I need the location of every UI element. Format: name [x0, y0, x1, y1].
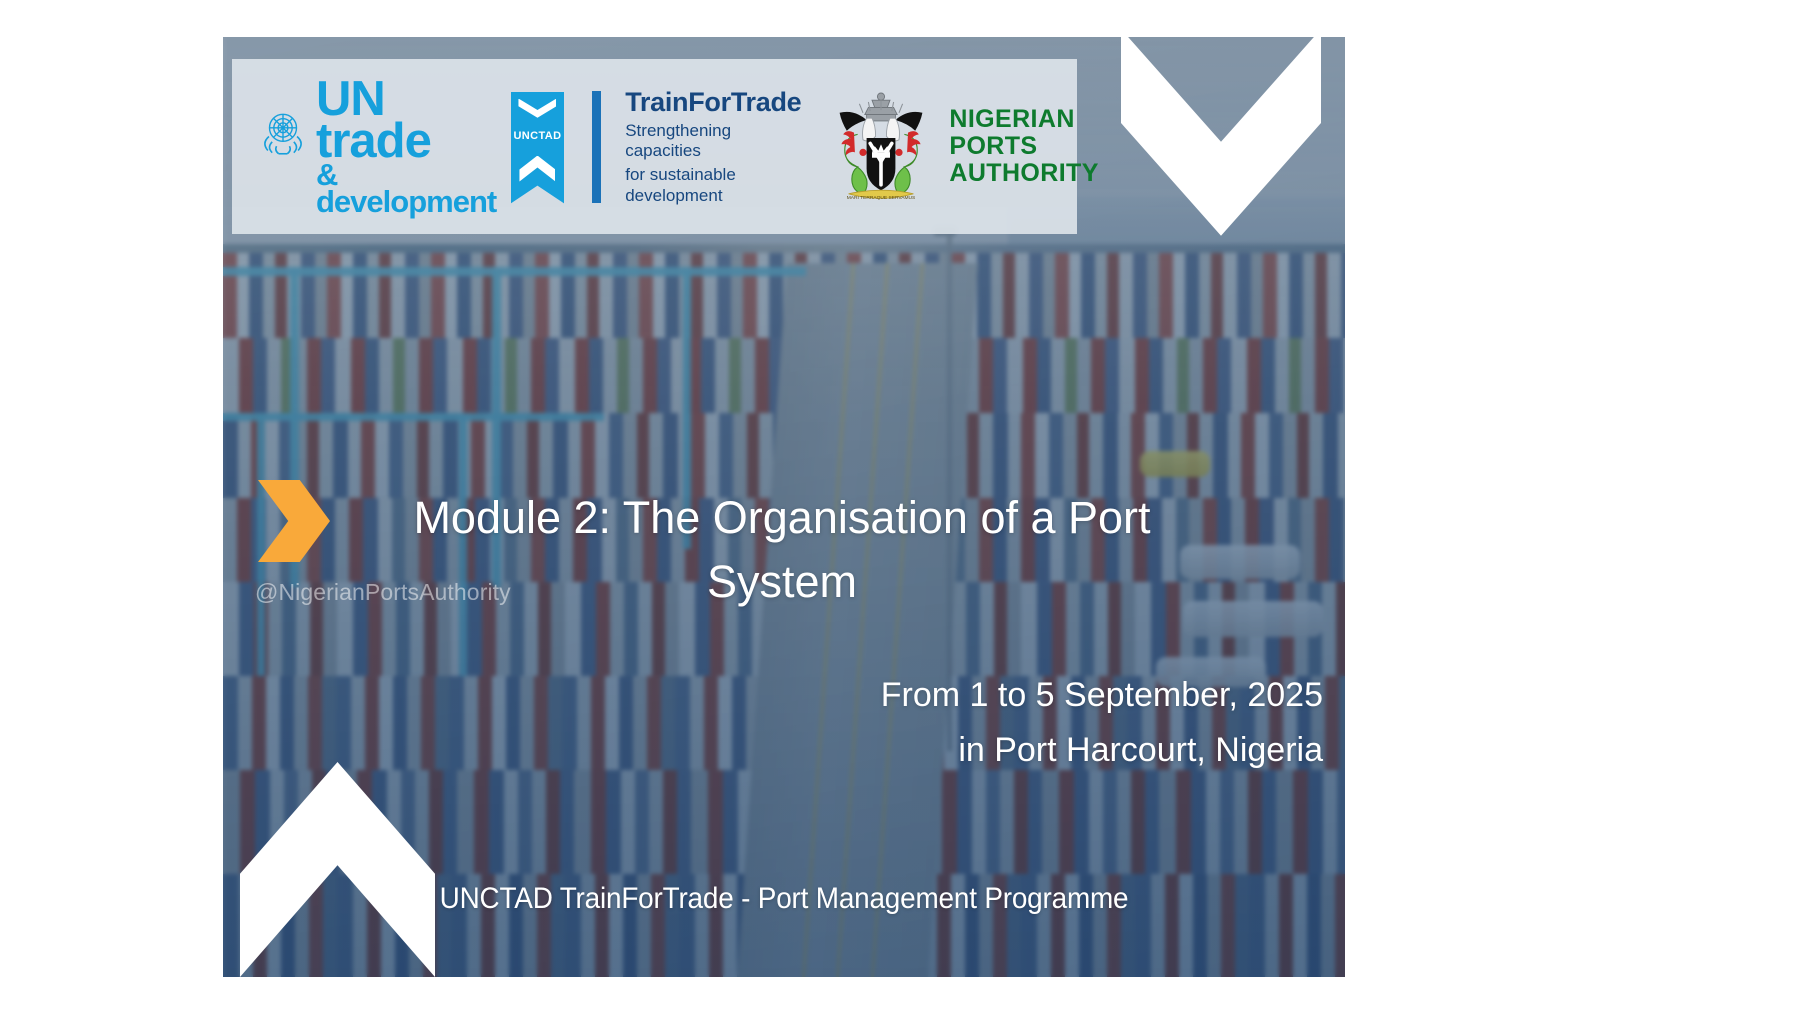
slide-footer: UNCTAD TrainForTrade - Port Management P…: [262, 882, 1305, 916]
ribbon-chevron-up-icon: [519, 156, 555, 182]
presentation-slide: UN trade & development UNCTAD TrainForTr…: [223, 37, 1345, 977]
npa-wordmark: NIGERIAN PORTS AUTHORITY: [949, 106, 1098, 187]
npa-line-ports: PORTS: [949, 133, 1098, 160]
screenshot-root: UN trade & development UNCTAD TrainForTr…: [0, 0, 1798, 1014]
trainfortrade-tagline-line1: Strengthening capacities: [625, 121, 801, 162]
unctad-ribbon-mark: UNCTAD: [511, 92, 565, 204]
slide-subtitle: From 1 to 5 September, 2025 in Port Harc…: [563, 668, 1323, 778]
npa-line-authority: AUTHORITY: [949, 160, 1098, 187]
ribbon-chevron-down-icon: [518, 99, 556, 125]
svg-text:MARI TERRAQUE SERVAMUS: MARI TERRAQUE SERVAMUS: [847, 195, 916, 201]
subtitle-dates: From 1 to 5 September, 2025: [563, 668, 1323, 723]
un-emblem-icon: [256, 103, 310, 157]
trainfortrade-title: TrainForTrade: [625, 87, 801, 118]
unctad-ribbon-label: UNCTAD: [511, 130, 565, 142]
slide-title: Module 2: The Organisation of a Port Sys…: [338, 486, 1226, 614]
npa-line-nigerian: NIGERIAN: [949, 106, 1098, 133]
nigerian-coat-of-arms-icon: MARI TERRAQUE SERVAMUS: [827, 87, 935, 207]
logo-bar: UN trade & development UNCTAD TrainForTr…: [232, 59, 1077, 234]
nigerian-ports-authority-logo: MARI TERRAQUE SERVAMUS NIGERIAN PORTS AU…: [827, 87, 1098, 207]
unctad-logo: UN trade & development UNCTAD: [256, 78, 564, 216]
trainfortrade-logo: TrainForTrade Strengthening capacities f…: [625, 87, 801, 207]
subtitle-venue: in Port Harcourt, Nigeria: [563, 723, 1323, 778]
trainfortrade-tagline-line2: for sustainable development: [625, 165, 801, 206]
logo-divider: [592, 91, 601, 203]
unctad-line-development: & development: [316, 162, 503, 215]
unctad-wordmark: UN trade & development: [316, 78, 503, 216]
unctad-line-trade: trade: [316, 120, 503, 162]
